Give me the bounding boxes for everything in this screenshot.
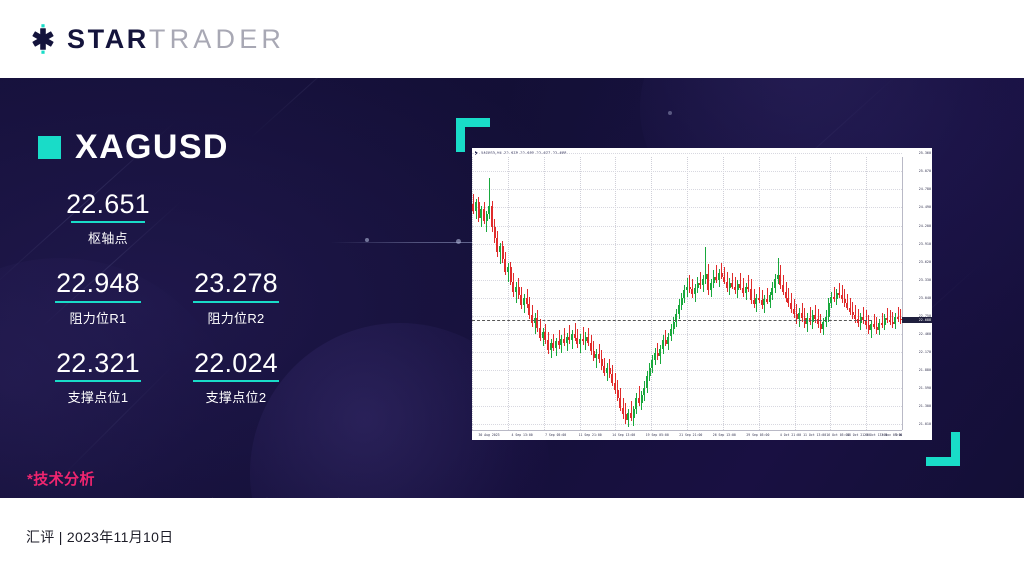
candle-wick [842,285,843,302]
candle-wick [767,288,768,304]
level-underline [193,380,279,382]
current-price-line [472,320,872,321]
price-axis-tick: 25.360 [919,151,931,155]
price-axis-tick: 22.460 [919,332,931,336]
pivot-row: 22.651 枢轴点 [38,190,398,261]
technical-analysis-block: *技术分析 多头持仓在枢轴点以上，目标位为阻力位R1及阻力位R2。 若低于枢轴点… [27,468,427,498]
candle-wick [569,325,570,344]
price-axis[interactable]: 25.36025.07024.78024.49024.20023.91023.6… [902,157,932,430]
level-pivot-label: 枢轴点 [38,228,178,247]
price-axis-tick: 24.200 [919,224,931,228]
footer-text: 汇评 | 2023年11月10日 [26,527,173,547]
candle-wick [564,328,565,347]
candle-wick [887,308,888,323]
level-pivot-value: 22.651 [38,190,178,218]
brand-name-light: TRADER [149,24,285,54]
candle-wick [735,277,736,294]
analysis-heading: *技术分析 [27,468,427,489]
candle-wick [890,310,891,325]
candle-wick [665,330,666,346]
time-axis-tick: 26 Sep 13:00 [713,433,736,437]
level-s1: 22.321 支撑点位1 [38,349,158,408]
level-underline [55,301,141,303]
price-axis-tick: 24.490 [919,205,931,209]
level-s1-value: 22.321 [38,349,158,377]
candle-wick [721,263,722,279]
candle-wick [583,327,584,346]
candle-wick [575,323,576,342]
level-underline [193,301,279,303]
candle-wick [834,287,835,302]
candle-wick [876,317,877,334]
candle-wick [639,386,640,406]
level-r1-label: 阻力位R1 [38,308,158,327]
level-s1-label: 支撑点位1 [38,387,158,406]
six-point-asterisk-icon [26,22,60,56]
price-axis-tick: 25.070 [919,169,931,173]
title-bullet-square [38,136,61,159]
level-r1: 22.948 阻力位R1 [38,269,158,328]
decor-dot [456,239,461,244]
price-axis-tick: 23.040 [919,296,931,300]
candle-wick [689,275,690,292]
time-axis-tick: 11 Sep 21:00 [579,433,602,437]
candle-wick [631,401,632,421]
corner-bracket-top-left [456,118,490,152]
candle-wick [844,289,845,306]
price-axis-tick: 24.780 [919,187,931,191]
candle-wick [778,258,779,284]
candle-wick [863,307,864,324]
candle-wick [516,282,517,303]
chart-plot-area[interactable] [472,157,902,430]
candle-wick [882,313,883,328]
level-underline [55,380,141,382]
price-axis-tick: 21.880 [919,368,931,372]
time-axis-tick: 7 Sep 05:00 [545,433,566,437]
level-r2: 23.278 阻力位R2 [176,269,296,328]
candle-wick [898,307,899,322]
price-axis-tick: 22.170 [919,350,931,354]
chart-gridline-horizontal [472,153,902,154]
candle-wick [852,302,853,319]
instrument-title-row: XAGUSD [38,130,229,164]
price-axis-tick: 21.010 [919,422,931,426]
level-r2-value: 23.278 [176,269,296,297]
time-axis-tick: 4 Oct 21:00 [780,433,801,437]
time-axis-tick: 19 Sep 05:00 [646,433,669,437]
price-axis-tick: 23.620 [919,260,931,264]
level-underline [71,221,145,223]
candle-wick [754,289,755,308]
candle-wick [850,298,851,315]
resistance-row: 22.948 阻力位R1 23.278 阻力位R2 [38,269,398,340]
footer-bar: 汇评 | 2023年11月10日 [0,498,1024,576]
time-axis-tick: 11 Oct 13:00 [803,433,826,437]
price-axis-tick: 23.330 [919,278,931,282]
price-axis-tick: 21.300 [919,404,931,408]
candle-wick [535,313,536,334]
candle-wick [839,283,840,298]
price-axis-tick: 23.910 [919,242,931,246]
page-title: XAGUSD [75,130,229,164]
time-axis[interactable]: 30 Aug 20234 Sep 13:007 Sep 05:0011 Sep … [472,430,902,440]
candle-wick [748,275,749,291]
candle-wick [657,343,658,360]
header-bar: STARTRADER [0,0,1024,78]
current-price-box: 22.688 [902,317,932,323]
candle-wick [810,307,811,326]
poster-root: STARTRADER XAGUSD 22.651 [0,0,1024,576]
pivot-levels: 22.651 枢轴点 22.948 阻力位R1 23.278 阻力位R2 [38,190,398,420]
level-r1-value: 22.948 [38,269,158,297]
candle-wick [732,273,733,289]
price-chart[interactable]: XAGUSD,H4 22.679 22.695 22.677 22.688 25… [472,148,932,440]
level-pivot: 22.651 枢轴点 [38,190,178,249]
level-r2-label: 阻力位R2 [176,308,296,327]
candle-wick [900,309,901,324]
candle-wick [596,349,597,368]
support-row: 22.321 支撑点位1 22.024 支撑点位2 [38,349,398,420]
candle-wick [700,272,701,289]
level-s2-label: 支撑点位2 [176,387,296,406]
candle-wick [858,309,859,326]
decor-dot [668,111,672,115]
brand-name-bold: STAR [67,24,149,54]
time-axis-tick: 29 Sep 05:00 [746,433,769,437]
level-s2: 22.024 支撑点位2 [176,349,296,408]
time-axis-tick: 30 Aug 2023 [478,433,499,437]
candle-wick [892,312,893,328]
time-axis-tick: 9 Nov 13:00 [896,433,902,437]
level-s2-value: 22.024 [176,349,296,377]
brand-wordmark: STARTRADER [67,26,285,53]
time-axis-tick: 14 Sep 13:00 [612,433,635,437]
candle-wick [759,287,760,303]
price-axis-tick: 21.590 [919,386,931,390]
time-axis-tick: 4 Sep 13:00 [512,433,533,437]
candle-wick [559,330,560,349]
candle-wick [874,314,875,329]
time-axis-tick: 21 Sep 21:00 [679,433,702,437]
time-axis-tick: 16 Oct 05:00 [826,433,849,437]
brand-logo[interactable]: STARTRADER [26,22,285,56]
